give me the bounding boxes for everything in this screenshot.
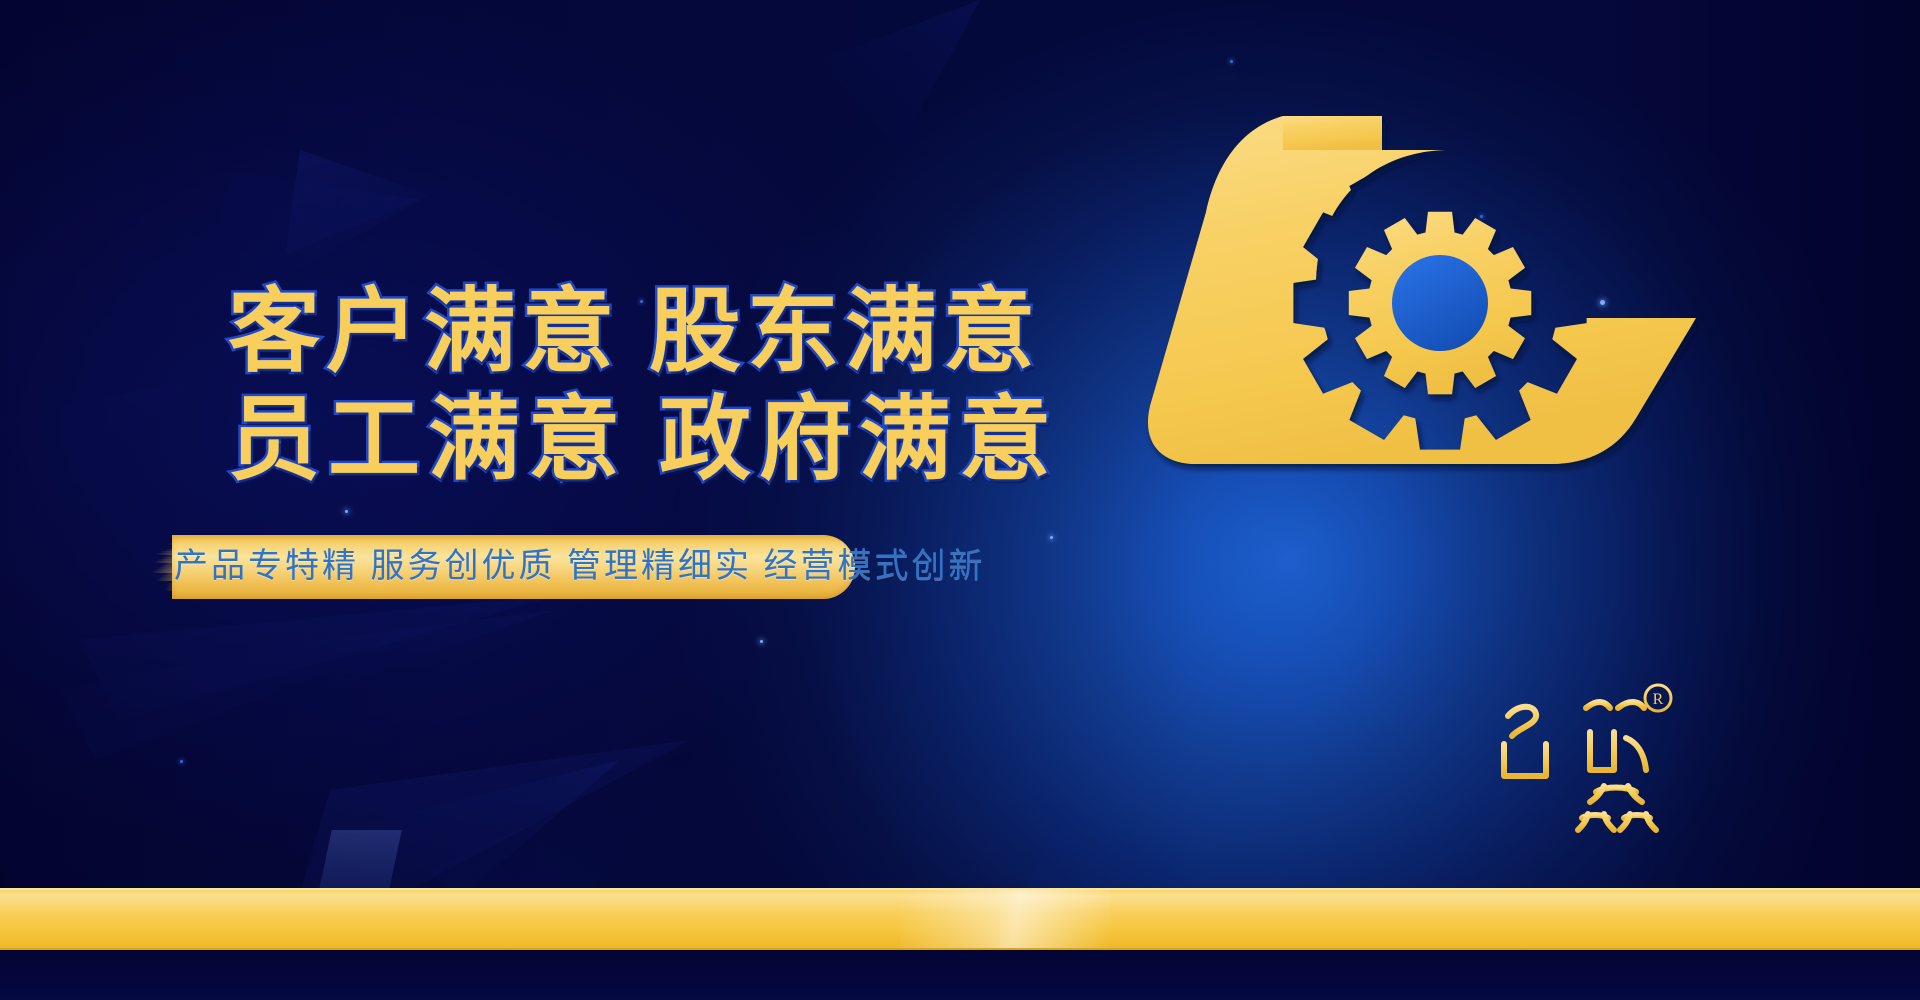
ribbon-slogan-text: 产品专特精 服务创优质 管理精细实 经营模式创新: [174, 535, 854, 599]
svg-text:R: R: [1653, 691, 1664, 708]
seal-script-wordmark-icon: R: [1478, 682, 1678, 842]
banner-canvas: 客户满意 股东满意 员工满意 政府满意 产品专特精 服务创优质 管理精细实 经营…: [0, 0, 1920, 1000]
slogan-ribbon: 产品专特精 服务创优质 管理精细实 经营模式创新: [150, 535, 855, 599]
footer-gold-bar: [0, 888, 1920, 950]
footer-dark-strip: [0, 950, 1920, 1000]
headline-line-1: 客户满意 股东满意: [228, 278, 988, 386]
gear-swoosh-logo-icon: [1120, 88, 1710, 488]
gold-bar-sheen: [900, 890, 1110, 948]
registered-symbol-icon: R: [1645, 685, 1671, 711]
headline-block: 客户满意 股东满意 员工满意 政府满意: [228, 278, 988, 494]
headline-line-2: 员工满意 政府满意: [228, 386, 988, 494]
